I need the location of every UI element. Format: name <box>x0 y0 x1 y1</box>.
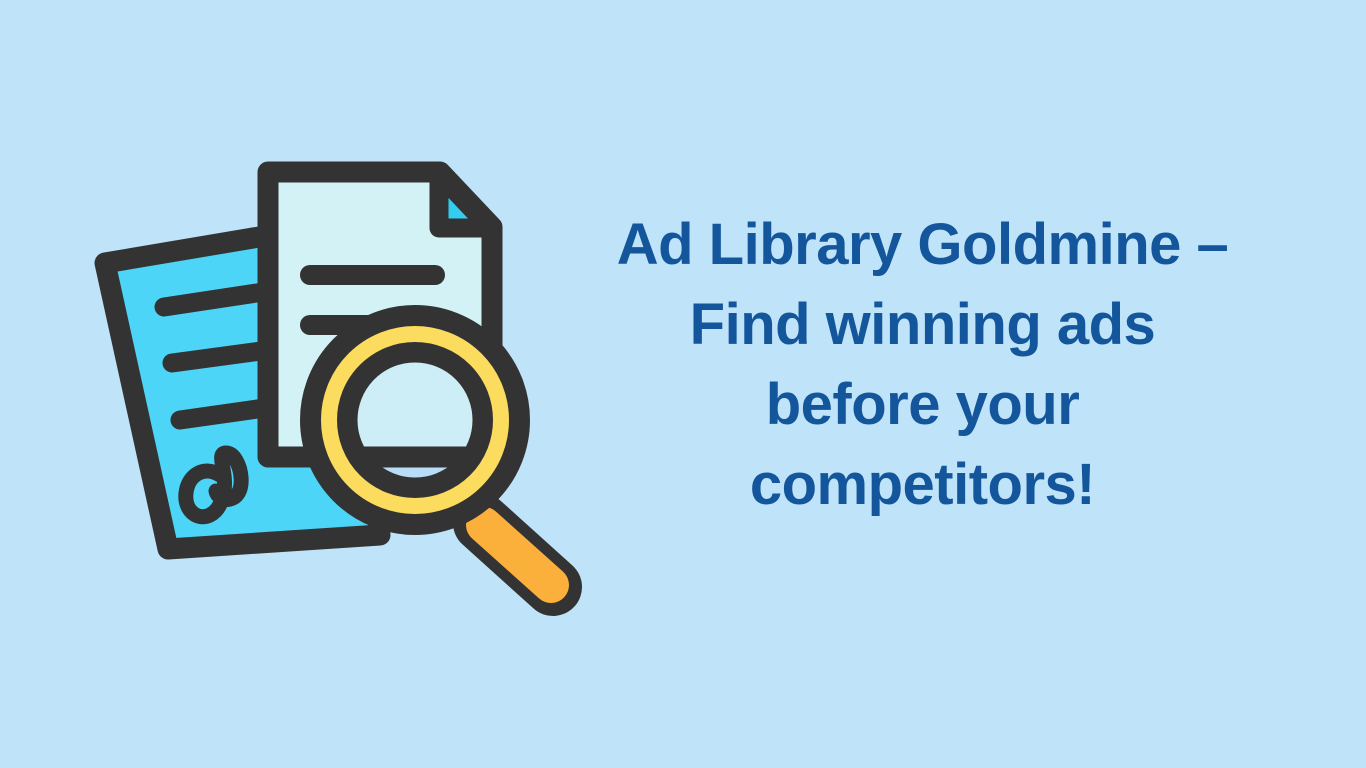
magnifier-handle-fill <box>484 525 551 585</box>
headline: Ad Library Goldmine – Find winning ads b… <box>590 205 1255 525</box>
front-document-fold-triangle <box>439 174 490 228</box>
headline-line-4: competitors! <box>590 445 1255 525</box>
headline-line-3: before your <box>590 365 1255 445</box>
headline-line-2: Find winning ads <box>590 285 1255 365</box>
illustration-svg <box>80 135 620 635</box>
headline-line-1: Ad Library Goldmine – <box>590 205 1255 285</box>
document-search-illustration <box>80 135 620 635</box>
slide-canvas: Ad Library Goldmine – Find winning ads b… <box>0 0 1366 768</box>
